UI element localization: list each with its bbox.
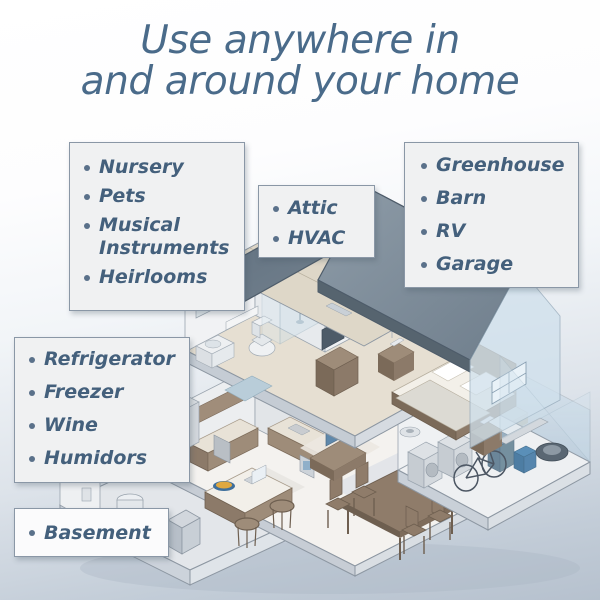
indoor-living-list: Nursery Pets Musical Instruments Heirloo…: [84, 156, 236, 289]
list-item-label: Instruments: [99, 237, 230, 260]
list-item-label: Attic: [288, 197, 338, 220]
poster-canvas: Use anywhere in and around your home Nur…: [0, 0, 600, 600]
attic-callout: Attic HVAC: [258, 185, 375, 258]
outdoor-callout: Greenhouse Barn RV Garage: [404, 142, 579, 288]
list-item-label: RV: [436, 220, 465, 243]
bullet-icon: [29, 530, 35, 536]
list-item-label: Heirlooms: [99, 266, 207, 289]
bullet-icon: [273, 236, 279, 242]
list-item-label: Wine: [44, 414, 98, 437]
list-item: Garage: [421, 253, 572, 276]
bullet-icon: [84, 194, 90, 200]
list-item: Humidors: [29, 447, 183, 470]
list-item-label: Garage: [436, 253, 513, 276]
bullet-icon: [421, 196, 427, 202]
bullet-icon: [421, 229, 427, 235]
list-item-label: Greenhouse: [436, 154, 565, 177]
list-item: Pets: [84, 185, 236, 208]
list-item-label: Pets: [99, 185, 146, 208]
bullet-icon: [421, 262, 427, 268]
list-item: Freezer: [29, 381, 183, 404]
bullet-icon: [84, 275, 90, 281]
list-item-label: Freezer: [44, 381, 123, 404]
list-item-label: HVAC: [288, 227, 345, 250]
bullet-icon: [29, 357, 35, 363]
bullet-icon: [84, 165, 90, 171]
bullet-icon: [273, 206, 279, 212]
list-item: Refrigerator: [29, 348, 183, 371]
list-item-continuation: Instruments: [84, 237, 236, 260]
list-item: Wine: [29, 414, 183, 437]
list-item-label: Barn: [436, 187, 486, 210]
bullet-icon: [421, 163, 427, 169]
bullet-icon: [84, 223, 90, 229]
outdoor-list: Greenhouse Barn RV Garage: [421, 154, 572, 276]
list-item-label: Refrigerator: [44, 348, 175, 371]
list-item-label: Basement: [44, 522, 151, 544]
bullet-icon: [29, 456, 35, 462]
attic-list: Attic HVAC: [273, 197, 368, 250]
list-item: Greenhouse: [421, 154, 572, 177]
list-item-label: Nursery: [99, 156, 184, 179]
basement-callout: Basement: [14, 508, 169, 557]
list-item: RV: [421, 220, 572, 243]
list-item-label: Musical: [99, 214, 180, 237]
list-item-label: Humidors: [44, 447, 147, 470]
list-item: Nursery: [84, 156, 236, 179]
list-item: Musical: [84, 214, 236, 237]
list-item: Barn: [421, 187, 572, 210]
list-item: HVAC: [273, 227, 368, 250]
bullet-icon: [29, 423, 35, 429]
list-item: Attic: [273, 197, 368, 220]
cooling-storage-list: Refrigerator Freezer Wine Humidors: [29, 348, 183, 470]
cooling-storage-callout: Refrigerator Freezer Wine Humidors: [14, 337, 190, 483]
bullet-spacer: [84, 246, 90, 252]
list-item: Basement: [29, 522, 162, 544]
list-item: Heirlooms: [84, 266, 236, 289]
indoor-living-callout: Nursery Pets Musical Instruments Heirloo…: [69, 142, 245, 311]
basement-list: Basement: [29, 522, 162, 544]
bullet-icon: [29, 390, 35, 396]
